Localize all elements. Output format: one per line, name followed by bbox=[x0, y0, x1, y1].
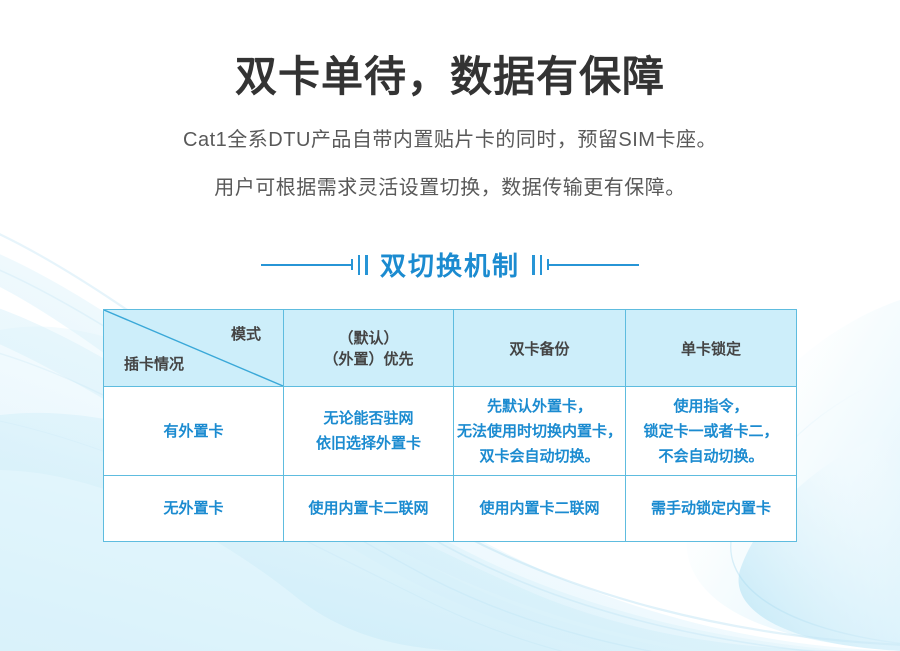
rule-bar-icon bbox=[365, 255, 368, 275]
cell-lines: 先默认外置卡， 无法使用时切换内置卡， 双卡会自动切换。 bbox=[454, 394, 625, 469]
cell-r1-c3: 使用指令， 锁定卡一或者卡二， 不会自动切换。 bbox=[626, 387, 797, 476]
diagonal-divider-icon bbox=[104, 310, 283, 386]
rule-line-icon bbox=[261, 264, 351, 266]
row-label: 有外置卡 bbox=[163, 423, 223, 440]
row-label-without-external-card: 无外置卡 bbox=[104, 476, 284, 542]
corner-label-card-state: 插卡情况 bbox=[124, 353, 184, 374]
cell-line: 需手动锁定内置卡 bbox=[626, 496, 796, 521]
header-cell-lines: （默认） （外置）优先 bbox=[284, 327, 453, 369]
header-line: 双卡备份 bbox=[454, 338, 625, 359]
header-line: （默认） bbox=[284, 327, 453, 348]
cell-r2-c2: 使用内置卡二联网 bbox=[454, 476, 626, 542]
section-title: 双切换机制 bbox=[380, 246, 520, 283]
section-heading: 双切换机制 bbox=[0, 246, 900, 283]
cell-line: 锁定卡一或者卡二， bbox=[626, 419, 796, 444]
cell-line: 使用内置卡二联网 bbox=[454, 496, 625, 521]
table-row: 有外置卡 无论能否驻网 依旧选择外置卡 先默认外置卡， 无法使用时切换内置卡， … bbox=[104, 387, 797, 476]
cell-line: 先默认外置卡， bbox=[454, 394, 625, 419]
cell-r2-c3: 需手动锁定内置卡 bbox=[626, 476, 797, 542]
cell-lines: 需手动锁定内置卡 bbox=[626, 496, 796, 521]
table-corner-cell: 模式 插卡情况 bbox=[104, 310, 284, 387]
header-line: （外置）优先 bbox=[284, 348, 453, 369]
cell-line: 双卡会自动切换。 bbox=[454, 444, 625, 469]
cell-r1-c1: 无论能否驻网 依旧选择外置卡 bbox=[284, 387, 454, 476]
header-cell-lines: 双卡备份 bbox=[454, 338, 625, 359]
column-header-dual-backup: 双卡备份 bbox=[454, 310, 626, 387]
cell-lines: 使用内置卡二联网 bbox=[454, 496, 625, 521]
rule-tick-icon bbox=[351, 259, 353, 270]
subtitle-line-2: 用户可根据需求灵活设置切换，数据传输更有保障。 bbox=[0, 174, 900, 202]
table-row: 无外置卡 使用内置卡二联网 使用内置卡二联网 需手动锁 bbox=[104, 476, 797, 542]
cell-line: 使用指令， bbox=[626, 394, 796, 419]
cell-line: 无法使用时切换内置卡， bbox=[454, 419, 625, 444]
table-header-row: 模式 插卡情况 （默认） （外置）优先 双卡备份 bbox=[104, 310, 797, 387]
corner-label-mode: 模式 bbox=[231, 323, 261, 344]
column-header-single-lock: 单卡锁定 bbox=[626, 310, 797, 387]
cell-line: 使用内置卡二联网 bbox=[284, 496, 453, 521]
heading-rule-left bbox=[261, 255, 368, 275]
page-title: 双卡单待，数据有保障 bbox=[0, 52, 900, 102]
cell-lines: 使用内置卡二联网 bbox=[284, 496, 453, 521]
cell-line: 不会自动切换。 bbox=[626, 444, 796, 469]
cell-r2-c1: 使用内置卡二联网 bbox=[284, 476, 454, 542]
rule-line-icon bbox=[549, 264, 639, 266]
row-label: 无外置卡 bbox=[163, 500, 223, 517]
heading-rule-right bbox=[532, 255, 639, 275]
content-layer: 双卡单待，数据有保障 Cat1全系DTU产品自带内置贴片卡的同时，预留SIM卡座… bbox=[0, 0, 900, 651]
cell-lines: 使用指令， 锁定卡一或者卡二， 不会自动切换。 bbox=[626, 394, 796, 469]
switch-mechanism-table: 模式 插卡情况 （默认） （外置）优先 双卡备份 bbox=[103, 309, 797, 542]
rule-bar-icon bbox=[532, 255, 535, 275]
cell-line: 依旧选择外置卡 bbox=[284, 431, 453, 456]
subtitle-line-1: Cat1全系DTU产品自带内置贴片卡的同时，预留SIM卡座。 bbox=[0, 126, 900, 154]
column-header-default-external: （默认） （外置）优先 bbox=[284, 310, 454, 387]
rule-bar-icon bbox=[540, 255, 542, 275]
cell-lines: 无论能否驻网 依旧选择外置卡 bbox=[284, 406, 453, 456]
header-cell-lines: 单卡锁定 bbox=[626, 338, 796, 359]
row-label-with-external-card: 有外置卡 bbox=[104, 387, 284, 476]
cell-r1-c2: 先默认外置卡， 无法使用时切换内置卡， 双卡会自动切换。 bbox=[454, 387, 626, 476]
cell-line: 无论能否驻网 bbox=[284, 406, 453, 431]
header-line: 单卡锁定 bbox=[626, 338, 796, 359]
rule-bar-icon bbox=[358, 255, 360, 275]
page-root: 双卡单待，数据有保障 Cat1全系DTU产品自带内置贴片卡的同时，预留SIM卡座… bbox=[0, 0, 900, 651]
